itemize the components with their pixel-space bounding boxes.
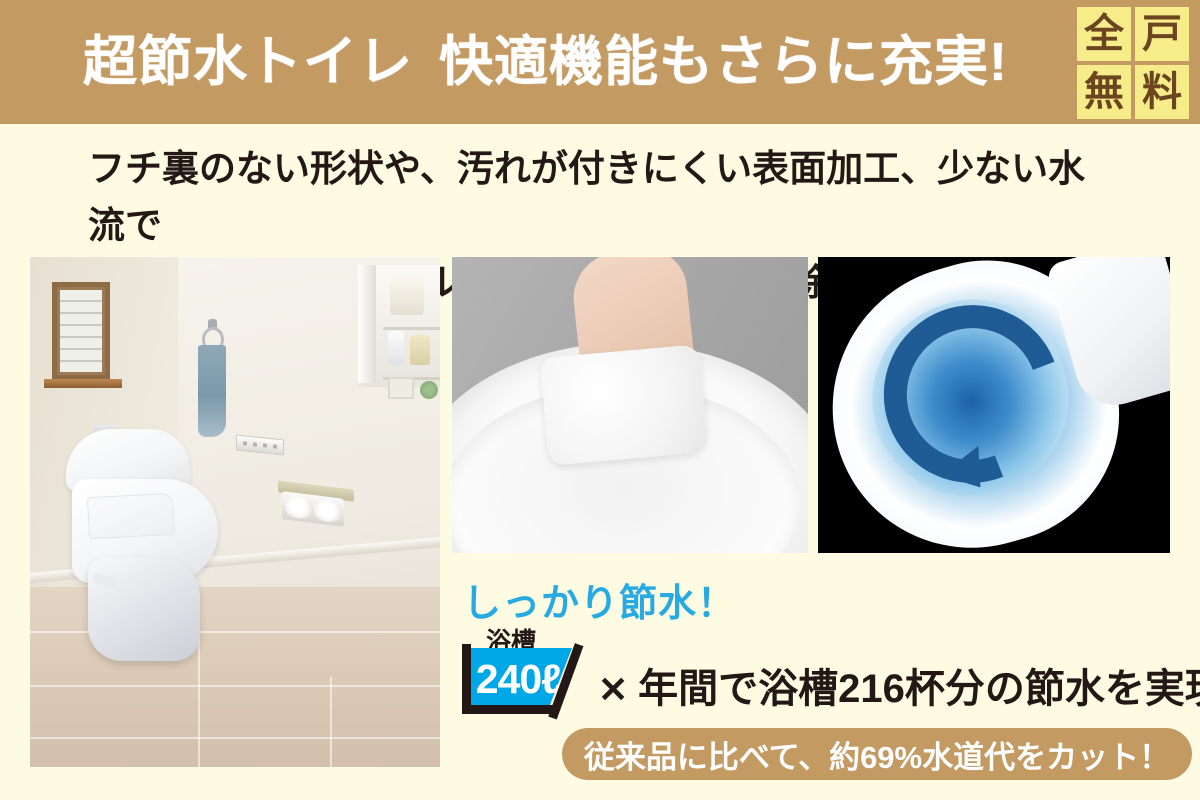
free-for-all-units-badge: 全 戸 無 料	[1077, 7, 1189, 119]
bathtub-outline-left	[462, 644, 471, 710]
bathtub-icon: 240ℓ	[462, 648, 590, 710]
cabinet-door	[358, 265, 376, 383]
remote-button	[253, 442, 257, 446]
storage-bottle	[410, 335, 430, 365]
tornado-flush-photo	[818, 257, 1170, 553]
glass-block-window	[52, 282, 110, 380]
decorative-plant	[420, 381, 438, 399]
savings-statement-text: 年間で浴槽216杯分の節水を実現	[638, 667, 1200, 711]
bathtub-volume-value: 240ℓ	[471, 652, 565, 706]
toilet-seat-plate	[87, 493, 175, 539]
cabinet-shelf	[383, 327, 440, 330]
savings-heading: しっかり節水！	[463, 572, 736, 627]
cleaning-cloth	[540, 344, 709, 466]
remote-button	[273, 444, 277, 448]
badge-cell-ko: 戸	[1135, 7, 1189, 61]
remote-button	[243, 441, 247, 445]
badge-cell-zen: 全	[1077, 7, 1131, 61]
tile-seam	[30, 685, 440, 687]
paper-roll	[285, 495, 311, 520]
toilet-base	[88, 557, 200, 661]
badge-cell-mu: 無	[1077, 65, 1131, 119]
tissue-stack	[390, 275, 424, 315]
window-glass	[60, 290, 102, 372]
badge-cell-ryo: 料	[1135, 65, 1189, 119]
water-cost-cut-badge: 従来品に比べて、約69%水道代をカット！	[562, 728, 1192, 780]
multiply-icon: ✕	[598, 669, 628, 710]
soap-dispenser	[388, 331, 404, 365]
toilet-room-photo	[30, 257, 440, 767]
description-line-1: フチ裏のない形状や、汚れが付きにくい表面加工、少ない水流で	[88, 140, 1118, 254]
tile-seam	[330, 677, 332, 767]
water-cost-cut-text: 従来品に比べて、約69%水道代をカット！	[584, 732, 1170, 777]
page-title-part2: 快適機能もさらに充実!	[439, 32, 1008, 92]
page-title-part1: 超節水トイレ	[83, 32, 413, 92]
cleaning-demo-photo	[452, 257, 808, 553]
paper-roll	[314, 498, 340, 523]
hand-towel	[198, 345, 226, 437]
savings-statement: ✕年間で浴槽216杯分の節水を実現	[598, 656, 1200, 714]
bathtub-outline-bottom	[462, 705, 554, 714]
window-sill	[44, 379, 122, 388]
page-title: 超節水トイレ快適機能もさらに充実!	[83, 22, 1008, 102]
tile-seam	[198, 627, 200, 767]
tile-seam	[30, 737, 440, 739]
picture-frame	[388, 377, 414, 399]
remote-button	[263, 443, 267, 447]
